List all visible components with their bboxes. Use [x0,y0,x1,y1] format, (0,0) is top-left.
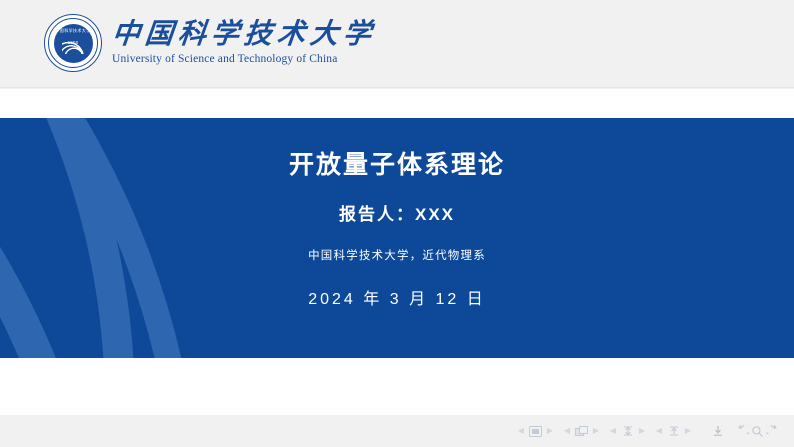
logo-name-en: University of Science and Technology of … [112,53,376,66]
emblem-inner-disc: 中国科学技术大学 1958 [54,24,93,63]
page-mode-group-fit-page: ◀ ▶ [655,424,692,438]
two-page-icon[interactable] [574,424,589,438]
title-banner: 开放量子体系理论 报告人：XXX 中国科学技术大学，近代物理系 2024 年 3… [0,118,794,358]
download-icon[interactable] [710,424,725,438]
viewer-header: 中国科学技术大学 1958 中国科学技术大学 University of Sci… [0,0,794,88]
document-viewer: 中国科学技术大学 1958 中国科学技术大学 University of Sci… [0,0,794,447]
ustc-emblem-icon: 中国科学技术大学 1958 [44,14,102,72]
page-mode-group-single: ◀ ▶ [517,424,554,438]
logo-text-block: 中国科学技术大学 University of Science and Techn… [112,20,376,66]
ustc-logo: 中国科学技术大学 1958 中国科学技术大学 University of Sci… [44,14,376,72]
emblem-arc-text: 中国科学技术大学 [54,28,93,34]
single-page-icon[interactable] [528,424,543,438]
logo-name-cn: 中国科学技术大学 [110,20,377,50]
rotate-left-icon[interactable] [735,424,750,438]
prev-arrow-icon[interactable]: ◀ [609,425,617,437]
prev-arrow-icon[interactable]: ◀ [517,425,525,437]
next-arrow-icon[interactable]: ▶ [592,425,600,437]
prev-arrow-icon[interactable]: ◀ [563,425,571,437]
page-mode-group-fit-width: ◀ ▶ [609,424,646,438]
rotate-right-icon[interactable] [765,424,780,438]
emblem-year: 1958 [54,40,93,45]
date-line: 2024 年 3 月 12 日 [308,285,486,309]
affiliation-line: 中国科学技术大学，近代物理系 [308,247,486,263]
zoom-icon[interactable] [750,424,765,438]
speaker-line: 报告人：XXX [339,200,455,225]
next-arrow-icon[interactable]: ▶ [546,425,554,437]
prev-arrow-icon[interactable]: ◀ [655,425,663,437]
slide-page: 开放量子体系理论 报告人：XXX 中国科学技术大学，近代物理系 2024 年 3… [0,89,794,415]
next-arrow-icon[interactable]: ▶ [684,425,692,437]
banner-text-block: 开放量子体系理论 报告人：XXX 中国科学技术大学，近代物理系 2024 年 3… [0,118,794,358]
viewer-toolbar: ◀ ▶ ◀ ▶ ◀ [0,415,794,447]
next-arrow-icon[interactable]: ▶ [638,425,646,437]
fit-width-icon[interactable] [620,424,635,438]
page-mode-group-double: ◀ ▶ [563,424,600,438]
talk-title: 开放量子体系理论 [289,150,505,180]
fit-page-icon[interactable] [666,424,681,438]
